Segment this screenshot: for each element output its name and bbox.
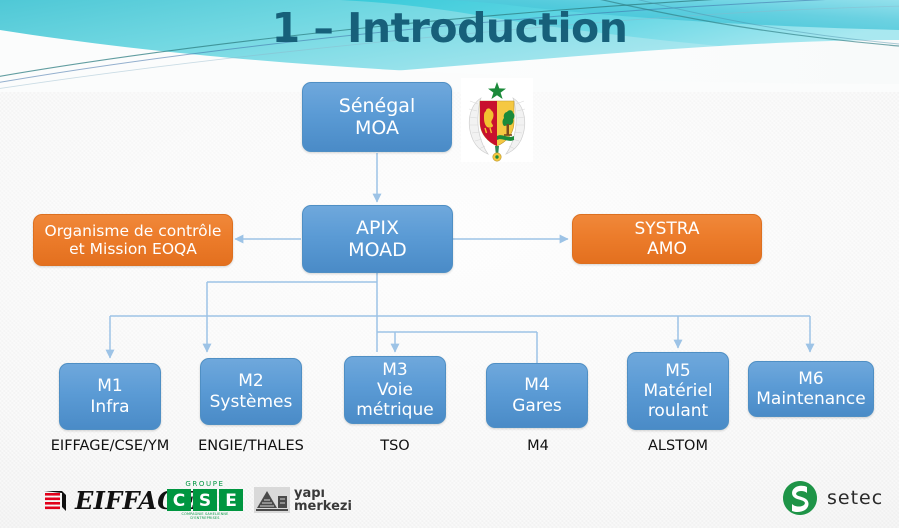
- node-lot-m6[interactable]: M6 Maintenance: [748, 361, 874, 417]
- logo-setec: setec: [782, 480, 883, 516]
- node-apix-moad[interactable]: APIX MOAD: [302, 205, 453, 273]
- node-systra-line2: AMO: [647, 239, 687, 259]
- svg-text:S: S: [199, 491, 211, 511]
- node-m4-line1: M4: [524, 375, 549, 395]
- caption-lot-m3: TSO: [345, 438, 445, 454]
- node-m5-line1: M5: [665, 361, 690, 381]
- node-m5-line2: Matériel: [643, 381, 712, 401]
- svg-text:C: C: [173, 491, 185, 511]
- node-lot-m3[interactable]: M3 Voie métrique: [344, 356, 446, 424]
- node-organisme-controle-eoqa[interactable]: Organisme de contrôle et Mission EOQA: [33, 214, 233, 266]
- node-apix-line1: APIX: [356, 217, 399, 239]
- node-m5-line3: roulant: [648, 401, 708, 421]
- caption-lot-m1: EIFFAGE/CSE/YM: [35, 438, 185, 454]
- node-m2-line2: Systèmes: [210, 392, 293, 412]
- caption-lot-m2: ENGIE/THALES: [176, 438, 326, 454]
- node-lot-m1[interactable]: M1 Infra: [59, 363, 161, 430]
- logo-cse: GROUPE C S E COMPAGNIE SAHELIENNE D'ENTR…: [167, 481, 243, 520]
- logo-yapi-merkezi: yapı merkezi: [254, 487, 352, 513]
- node-m1-line1: M1: [97, 376, 122, 396]
- node-senegal-line1: Sénégal: [339, 95, 415, 117]
- node-m3-line2: Voie: [377, 380, 413, 400]
- node-senegal-line2: MOA: [355, 117, 399, 139]
- yapi-merkezi-mark-icon: [254, 487, 290, 513]
- node-eoqa-line2: et Mission EOQA: [69, 240, 197, 258]
- node-lot-m5[interactable]: M5 Matériel roulant: [627, 352, 729, 430]
- cse-letters-icon: C S E: [167, 489, 243, 511]
- node-m2-line1: M2: [238, 371, 263, 391]
- senegal-coat-of-arms: [461, 78, 533, 162]
- setec-mark-icon: [782, 480, 818, 516]
- cse-subtitle: COMPAGNIE SAHELIENNE D'ENTREPRISES: [167, 512, 243, 520]
- node-m6-line2: Maintenance: [756, 389, 865, 409]
- svg-text:E: E: [225, 491, 237, 511]
- caption-lot-m5: ALSTOM: [628, 438, 728, 454]
- node-systra-line1: SYSTRA: [634, 219, 699, 239]
- node-m3-line1: M3: [382, 360, 407, 380]
- node-eoqa-line1: Organisme de contrôle: [45, 222, 222, 240]
- slide-title: 1 – Introduction: [0, 4, 899, 52]
- setec-wordmark: setec: [827, 487, 883, 509]
- node-m3-line3: métrique: [356, 400, 433, 420]
- eiffage-mark-icon: [42, 488, 68, 514]
- node-senegal-moa[interactable]: Sénégal MOA: [302, 82, 452, 152]
- cse-groupe-label: GROUPE: [167, 481, 243, 488]
- caption-lot-m4: M4: [488, 438, 588, 454]
- yapi-line2: merkezi: [294, 500, 352, 513]
- node-lot-m4[interactable]: M4 Gares: [486, 363, 588, 428]
- node-apix-line2: MOAD: [348, 239, 407, 261]
- node-lot-m2[interactable]: M2 Systèmes: [200, 358, 302, 425]
- node-systra-amo[interactable]: SYSTRA AMO: [572, 214, 762, 264]
- node-m4-line2: Gares: [512, 396, 562, 416]
- node-m6-line1: M6: [798, 369, 823, 389]
- presentation-slide: 1 – Introduction: [0, 0, 899, 528]
- node-m1-line2: Infra: [90, 397, 129, 417]
